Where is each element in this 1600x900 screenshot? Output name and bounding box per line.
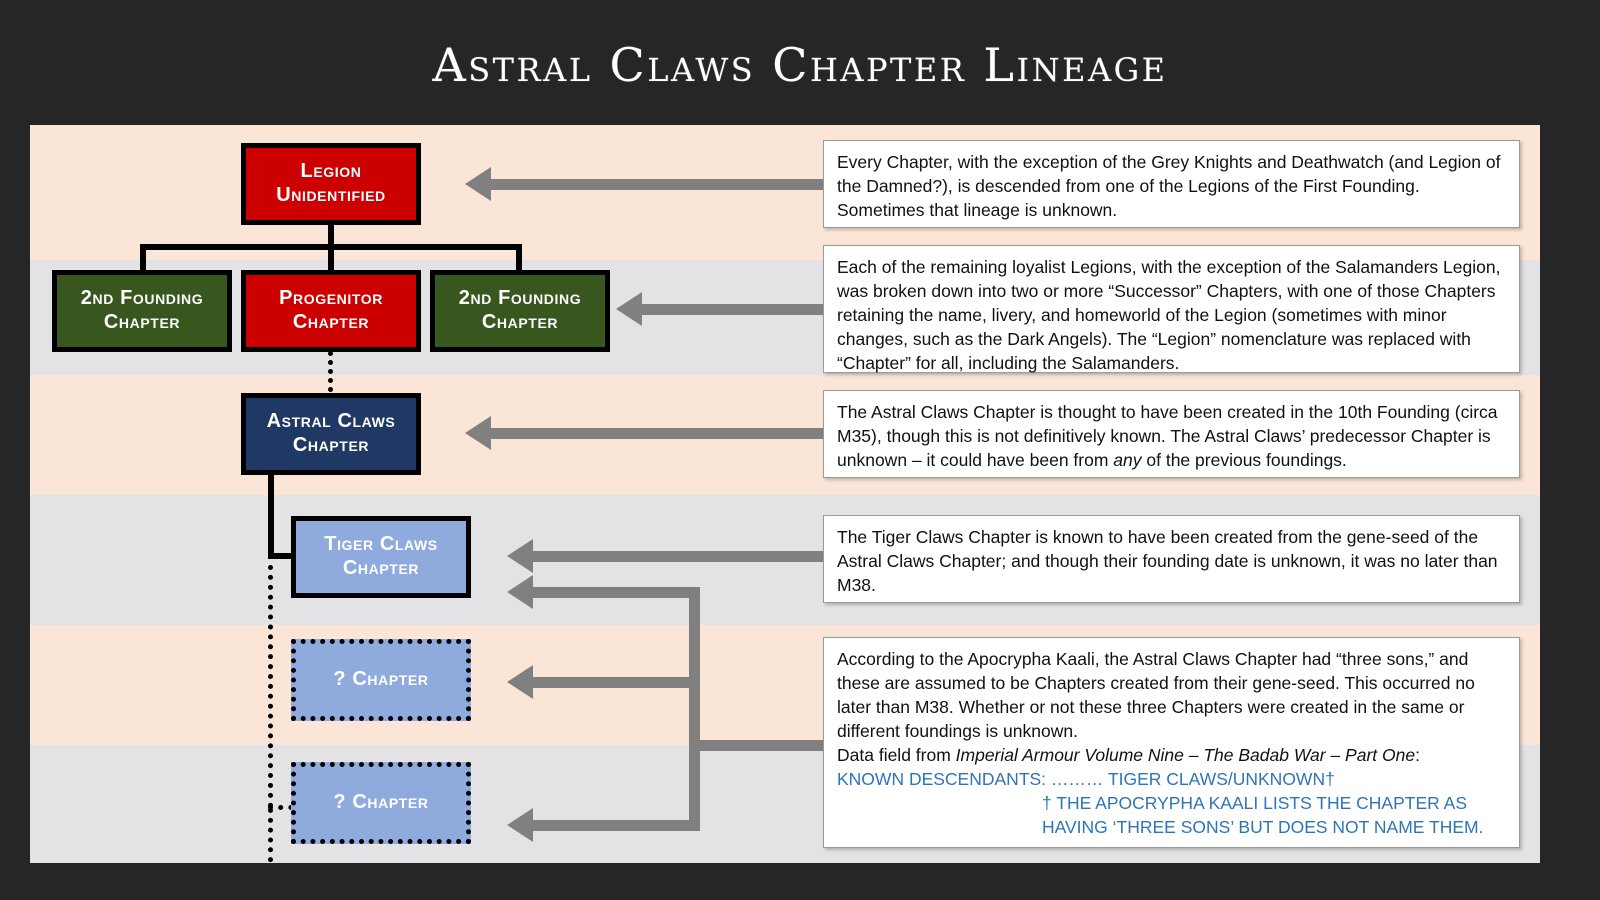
source-title: Imperial Armour Volume Nine – The Badab … [956, 745, 1415, 765]
arrow-shaft-three-sons-tiger [533, 587, 700, 598]
node-astral-claws-line1: Astral Claws [261, 410, 402, 434]
arrow-shaft-legion [491, 179, 823, 190]
arrow-shaft-tiger [533, 551, 823, 562]
connector-astral-dotted-spine [268, 565, 273, 808]
arrow-head-unknown-1 [507, 665, 533, 699]
arrow-shaft-unknown-2 [533, 820, 700, 831]
node-tiger-claws-line2: Chapter [318, 557, 444, 581]
arrow-head-unknown-2 [507, 808, 533, 842]
diagram-root: Astral Claws Chapter Lineage [0, 0, 1600, 900]
node-legion-line1: Legion [270, 160, 392, 184]
arrow-head-astral [465, 416, 491, 450]
node-tiger-claws-line1: Tiger Claws [318, 533, 444, 557]
page-title: Astral Claws Chapter Lineage [0, 38, 1600, 92]
arrow-shaft-astral [491, 428, 823, 439]
panel-tiger-claws-note: The Tiger Claws Chapter is known to have… [823, 515, 1520, 603]
arrow-shaft-founding [642, 304, 823, 315]
node-unknown-chapter-2[interactable]: ? Chapter [291, 762, 471, 844]
panel-astral-italic: any [1113, 450, 1141, 470]
arrow-head-three-sons-tiger [507, 575, 533, 609]
node-legion-unidentified[interactable]: Legion Unidentified [241, 143, 421, 225]
arrow-head-founding [616, 292, 642, 326]
connector-astral-dotted-spine-lower [268, 808, 273, 863]
panel-three-sons-note: According to the Apocrypha Kaali, the As… [823, 637, 1520, 848]
known-descendants-line: KNOWN DESCENDANTS: ……… TIGER CLAWS/UNKNO… [837, 768, 1506, 792]
node-legion-line2: Unidentified [270, 184, 392, 208]
panel-astral-claws-text: The Astral Claws Chapter is thought to h… [837, 401, 1506, 473]
diagram-board: Legion Unidentified 2nd Founding Chapter… [30, 125, 1540, 863]
node-astral-claws-chapter[interactable]: Astral Claws Chapter [241, 393, 421, 475]
node-astral-claws-line2: Chapter [261, 434, 402, 458]
node-progenitor-chapter[interactable]: Progenitor Chapter [241, 270, 421, 352]
panel-three-sons-paragraph: According to the Apocrypha Kaali, the As… [837, 648, 1506, 744]
panel-successors-note: Each of the remaining loyalist Legions, … [823, 245, 1520, 373]
node-progenitor-line2: Chapter [273, 311, 389, 335]
arrow-trunk-three-sons-vertical [689, 587, 700, 831]
panel-legion-note: Every Chapter, with the exception of the… [823, 140, 1520, 228]
connector-bus-to-center [328, 244, 334, 271]
node-second-founding-right-line2: Chapter [453, 311, 587, 335]
connector-progenitor-to-astral-dotted [328, 351, 333, 392]
arrow-head-tiger [507, 539, 533, 573]
node-unknown-2-label: ? Chapter [327, 791, 434, 815]
node-unknown-1-label: ? Chapter [327, 668, 434, 692]
source-suffix: : [1415, 745, 1420, 765]
arrow-head-legion [465, 167, 491, 201]
panel-three-sons-source: Data field from Imperial Armour Volume N… [837, 744, 1506, 768]
footnote-line-2: HAVING ‘THREE SONS’ BUT DOES NOT NAME TH… [837, 816, 1506, 840]
connector-bus-to-right [516, 244, 522, 271]
node-progenitor-line1: Progenitor [273, 287, 389, 311]
node-tiger-claws-chapter[interactable]: Tiger Claws Chapter [291, 516, 471, 598]
node-second-founding-right[interactable]: 2nd Founding Chapter [430, 270, 610, 352]
arrow-trunk-three-sons-horizontal [689, 740, 823, 751]
source-prefix: Data field from [837, 745, 956, 765]
panel-successors-text: Each of the remaining loyalist Legions, … [837, 256, 1506, 376]
node-second-founding-left-line1: 2nd Founding [75, 287, 209, 311]
connector-bus-to-left [140, 244, 146, 271]
panel-astral-part2: of the previous foundings. [1142, 450, 1347, 470]
panel-astral-claws-note: The Astral Claws Chapter is thought to h… [823, 390, 1520, 478]
node-second-founding-left[interactable]: 2nd Founding Chapter [52, 270, 232, 352]
footnote-line-1: † THE APOCRYPHA KAALI LISTS THE CHAPTER … [837, 792, 1506, 816]
connector-astral-down [268, 475, 274, 559]
arrow-shaft-unknown-1 [533, 677, 700, 688]
panel-legion-text: Every Chapter, with the exception of the… [837, 151, 1506, 223]
panel-tiger-claws-text: The Tiger Claws Chapter is known to have… [837, 526, 1506, 598]
node-unknown-chapter-1[interactable]: ? Chapter [291, 639, 471, 721]
node-second-founding-left-line2: Chapter [75, 311, 209, 335]
node-second-founding-right-line1: 2nd Founding [453, 287, 587, 311]
